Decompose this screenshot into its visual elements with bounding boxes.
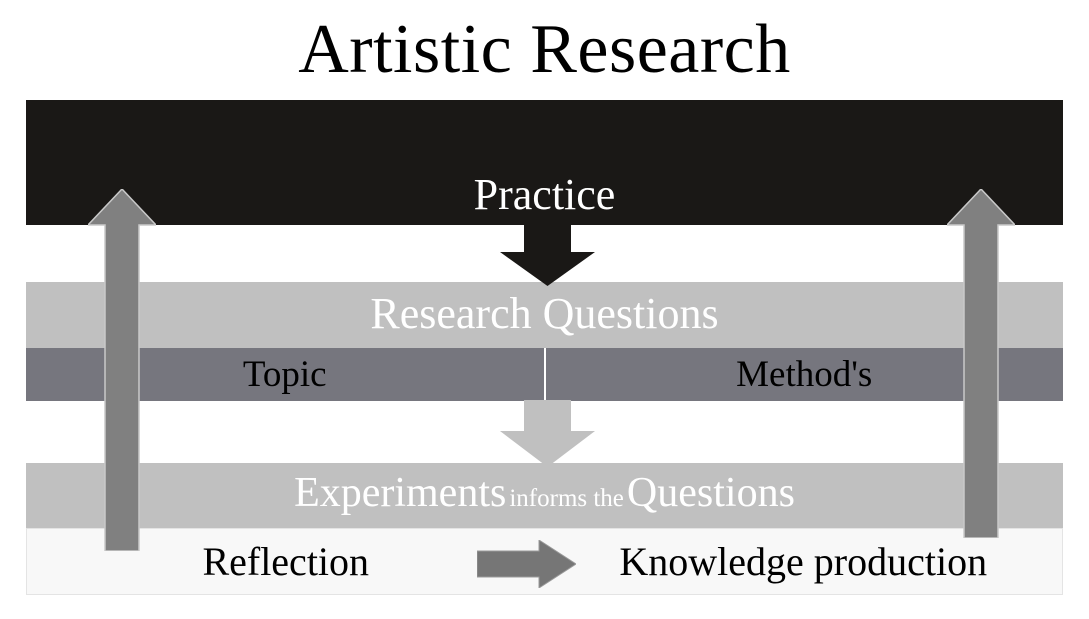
cell-methods-label: Method's — [736, 355, 872, 395]
down-arrow-methods-to-experiments-icon — [500, 400, 595, 467]
band-practice-label: Practice — [26, 171, 1063, 219]
band-topic-methods: Topic Method's — [26, 348, 1063, 401]
band-practice: Practice — [26, 100, 1063, 225]
band-experiments-label-part3: Questions — [627, 470, 795, 516]
band-research-questions-label: Research Questions — [26, 286, 1063, 342]
band-experiments-label: Experimentsinforms theQuestions — [26, 465, 1063, 527]
down-arrow-practice-to-questions-icon — [500, 222, 595, 286]
cell-knowledge-production-label: Knowledge production — [619, 540, 987, 584]
band-experiments-label-part1: Experiments — [294, 470, 506, 516]
up-arrow-right-icon — [947, 189, 1015, 538]
up-arrow-left-icon — [88, 189, 156, 551]
band-research-questions: Research Questions — [26, 282, 1063, 348]
band-experiments-label-part2: informs the — [506, 485, 627, 512]
cell-reflection-label: Reflection — [202, 540, 369, 584]
diagram-canvas: Artistic Research Practice Research Ques… — [0, 0, 1089, 619]
page-title: Artistic Research — [0, 8, 1089, 92]
cell-knowledge-production: Knowledge production — [545, 529, 1063, 594]
band-experiments: Experimentsinforms theQuestions — [26, 463, 1063, 528]
cell-topic-label: Topic — [243, 355, 327, 395]
right-arrow-reflection-to-knowledge-icon — [477, 540, 576, 588]
